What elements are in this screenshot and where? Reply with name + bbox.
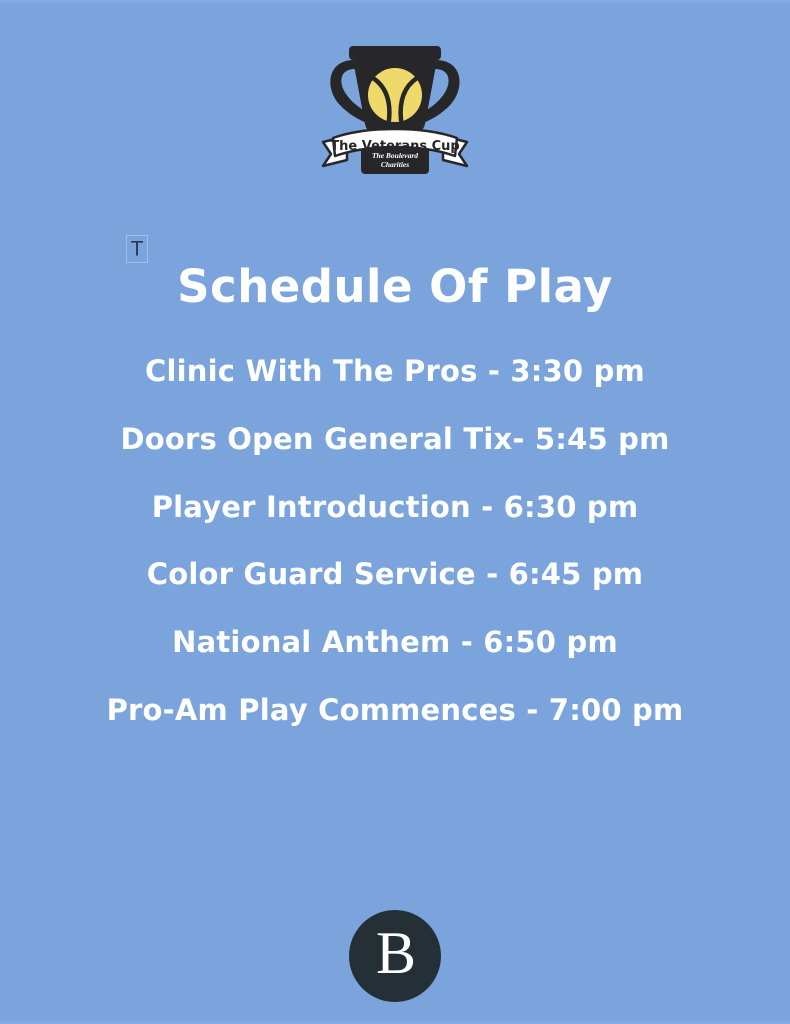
- brand-badge-letter: B: [376, 923, 416, 983]
- top-edge-band: [0, 0, 790, 3]
- veterans-cup-trophy-logo: The Boulevard Charities The Veterans Cup: [305, 28, 485, 178]
- tennis-ball-icon: [368, 68, 422, 122]
- logo-base-text-line2: Charities: [381, 160, 409, 169]
- schedule-item: Clinic With The Pros - 3:30 pm: [0, 338, 790, 406]
- stray-text-character: T: [131, 239, 144, 260]
- schedule-item: Pro-Am Play Commences - 7:00 pm: [0, 676, 790, 744]
- schedule-item: Player Introduction - 6:30 pm: [0, 473, 790, 541]
- page-title: Schedule Of Play: [0, 262, 790, 312]
- schedule-list: Clinic With The Pros - 3:30 pm Doors Ope…: [0, 338, 790, 745]
- schedule-item: Color Guard Service - 6:45 pm: [0, 541, 790, 609]
- schedule-item: National Anthem - 6:50 pm: [0, 609, 790, 677]
- poster-content: Schedule Of Play Clinic With The Pros - …: [0, 262, 790, 744]
- brand-badge: B: [349, 910, 441, 1002]
- schedule-item: Doors Open General Tix- 5:45 pm: [0, 405, 790, 473]
- poster-canvas: The Boulevard Charities The Veterans Cup…: [0, 0, 790, 1024]
- logo-banner-text: The Veterans Cup: [330, 139, 459, 154]
- stray-text-artifact[interactable]: T: [126, 235, 148, 263]
- trophy-rim: [349, 46, 441, 60]
